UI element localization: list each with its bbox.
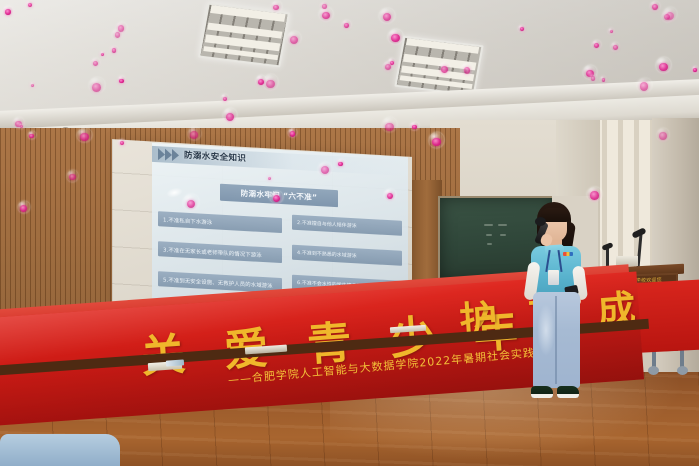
microphone-head-icon [535,217,546,226]
bubble [637,78,652,93]
bubble [267,176,272,181]
slide-bullet-1: 1.不准私自下水游泳 [158,211,282,233]
presenter-jeans-seam [555,296,557,384]
presenter-shoe-left [531,386,553,398]
bubble [256,75,267,86]
bubble [657,128,670,141]
bubble [318,162,332,176]
chevron-right-icon [165,149,172,161]
bubble [337,159,345,167]
blue-chair-caster [677,366,688,375]
bubble [183,194,199,210]
bubble [188,127,201,140]
presenter-shoe-right [557,386,579,398]
bubble [270,191,282,203]
presenter [519,200,593,412]
bubble [100,51,105,56]
bubble [110,46,118,54]
blue-chair-caster [648,366,659,375]
bubble [461,63,473,75]
slide-bullet-2: 2.不准擅自与他人结伴游泳 [292,215,402,236]
slide-bullet-4: 4.不准到不熟悉的水域游泳 [292,245,402,266]
bubble [112,29,122,39]
presenter-jeans-highlight [537,304,555,356]
bubble [342,20,350,28]
bubble [118,139,125,146]
bubble [271,1,282,12]
chevron-right-icon [172,149,179,161]
bubble [379,8,395,24]
bubble [320,2,328,10]
bubble [89,77,105,93]
bubble [28,131,36,139]
projector-glare [165,186,184,199]
slide-bullet-3: 3.不准在无家长或老师带队的情况下游泳 [158,241,282,263]
bubble [587,187,602,202]
bubble [3,6,13,16]
bubble [692,66,699,73]
ceiling-light-panel-1 [198,3,290,68]
chevron-right-icon [158,148,165,160]
bubble [388,29,403,44]
presenter-shirt-logo [563,252,573,256]
bubble [287,31,301,45]
bubble [77,128,92,143]
bubble [589,74,597,82]
photo-scene: 防溺水安全知识 防溺水牢记 “六不准” 1.不准私自下水游泳 3.不准在无家长或… [0,0,699,466]
bubble [384,189,396,201]
bubble [592,40,601,49]
bubble [67,170,79,182]
bubble [410,122,418,130]
blue-seat-foreground [0,434,120,466]
bubble [662,11,673,22]
water-bottle [166,359,184,366]
bubble [26,1,33,8]
bubble [91,58,100,67]
bubble [656,57,672,73]
presenter-id-badge [548,270,559,285]
bubble [650,1,660,11]
